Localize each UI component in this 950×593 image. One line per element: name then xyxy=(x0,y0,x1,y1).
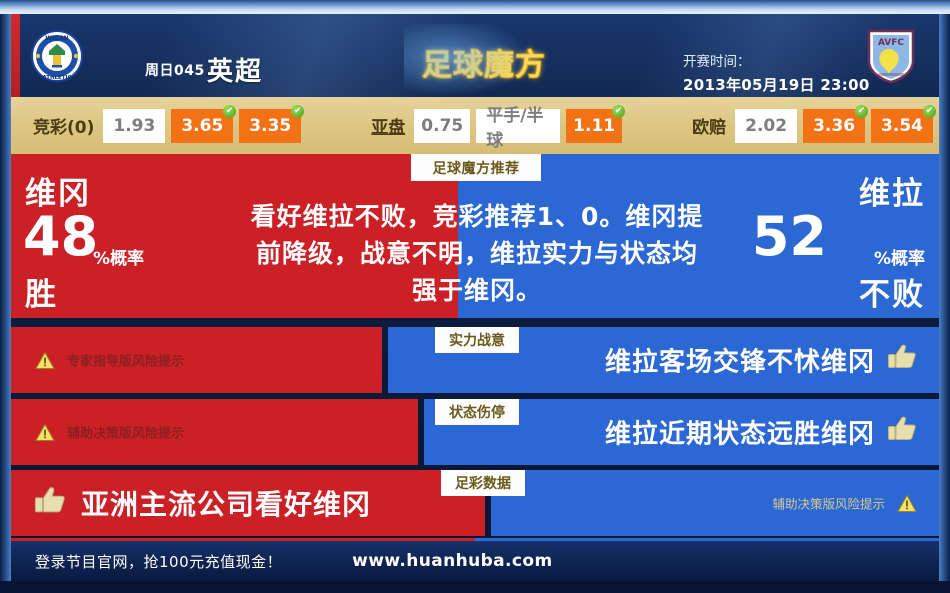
odds-value: 3.54 xyxy=(881,116,923,136)
check-icon: ✔ xyxy=(923,105,936,118)
home-team-crest-icon: WIGAN ATHLETIC xyxy=(30,29,84,83)
odds-value: 2.02 xyxy=(745,116,787,136)
odds-value: 平手/半球 xyxy=(486,101,550,151)
assistant-risk-warning: 辅助决策版风险提示 xyxy=(35,423,184,442)
frame-top-edge xyxy=(0,0,950,14)
warning-triangle-icon xyxy=(897,494,917,512)
odds-group-yapan: 亚盘 0.75 平手/半球 1.11 ✔ xyxy=(371,109,628,143)
info-row-form: 状态伤停 辅助决策版风险提示 维拉近期状态远胜维冈 xyxy=(11,399,939,465)
check-icon: ✔ xyxy=(855,105,868,118)
odds-value: 3.65 xyxy=(181,116,223,136)
footer-website-url[interactable]: www.huanhuba.com xyxy=(352,551,552,571)
odds-value: 1.11 xyxy=(573,116,615,136)
odds-group-label: 欧赔 xyxy=(692,113,726,138)
away-team-name: 维拉 xyxy=(859,168,925,213)
assistant-risk-warning-text: 辅助决策版风险提示 xyxy=(67,423,184,442)
check-icon: ✔ xyxy=(223,105,236,118)
odds-cell[interactable]: 3.54 ✔ xyxy=(871,109,933,143)
match-league-name: 英超 xyxy=(207,51,263,88)
home-win-percent: 48 xyxy=(23,210,98,264)
thumbs-up-icon xyxy=(887,416,917,449)
warning-triangle-icon xyxy=(35,423,55,441)
away-nolose-percent: 52 xyxy=(752,210,827,264)
match-header: WIGAN ATHLETIC AVFC 周日045 英超 足球魔方 开赛时间： … xyxy=(11,14,939,97)
odds-value: 1.93 xyxy=(113,116,155,136)
expert-risk-warning-text: 专家指导版风险提示 xyxy=(67,351,184,370)
odds-group-oupei: 欧赔 2.02 3.36 ✔ 3.54 ✔ xyxy=(692,109,939,143)
form-claim-text: 维拉近期状态远胜维冈 xyxy=(605,414,875,451)
match-preview-card: WIGAN ATHLETIC AVFC 周日045 英超 足球魔方 开赛时间： … xyxy=(0,0,950,593)
recommendation-text: 看好维拉不败，竞彩推荐1、0。维冈提前降级，战意不明，维拉实力与状态均强于维冈。 xyxy=(247,198,707,309)
assistant-risk-warning-right: 辅助决策版风险提示 xyxy=(772,494,917,513)
kickoff-time-label: 开赛时间： xyxy=(683,50,751,70)
odds-cell[interactable]: 1.93 xyxy=(103,109,165,143)
odds-value: 0.75 xyxy=(421,116,463,136)
form-claim: 维拉近期状态远胜维冈 xyxy=(605,414,917,451)
kickoff-time-value: 2013年05月19日 23:00 xyxy=(683,74,870,95)
svg-text:WIGAN: WIGAN xyxy=(45,35,68,42)
recommendation-band: 维冈 48 %概率 胜 维拉 52 %概率 不败 足球魔方推荐 看好维拉不败，竞… xyxy=(11,154,939,318)
expert-risk-warning: 专家指导版风险提示 xyxy=(35,351,184,370)
odds-cell[interactable]: 3.35 ✔ xyxy=(239,109,301,143)
frame-right-edge xyxy=(939,14,950,581)
match-round-number: 周日045 xyxy=(145,60,205,80)
header-accent-bar xyxy=(11,14,20,97)
odds-value: 3.36 xyxy=(813,116,855,136)
frame-bottom-edge xyxy=(0,581,950,593)
lottery-data-claim-text: 亚洲主流公司看好维冈 xyxy=(81,483,371,523)
info-row-strength: 实力战意 专家指导版风险提示 维拉客场交锋不怵维冈 xyxy=(11,327,939,393)
home-outcome-label: 胜 xyxy=(25,269,58,314)
brand-logo: 足球魔方 xyxy=(422,40,562,84)
lottery-data-claim: 亚洲主流公司看好维冈 xyxy=(33,483,371,523)
assistant-risk-warning-text: 辅助决策版风险提示 xyxy=(772,494,885,513)
svg-text:AVFC: AVFC xyxy=(878,38,904,48)
warning-triangle-icon xyxy=(35,351,55,369)
check-icon: ✔ xyxy=(612,105,625,118)
strength-claim: 维拉客场交锋不怵维冈 xyxy=(605,342,917,379)
home-percent-suffix: %概率 xyxy=(93,244,144,269)
strength-claim-text: 维拉客场交锋不怵维冈 xyxy=(605,342,875,379)
row-tab-label: 实力战意 xyxy=(435,327,519,353)
check-icon: ✔ xyxy=(291,105,304,118)
odds-group-label: 亚盘 xyxy=(371,113,405,138)
row-tab-label: 状态伤停 xyxy=(435,399,519,425)
svg-text:ATHLETIC: ATHLETIC xyxy=(42,75,71,81)
brand-glow xyxy=(404,24,534,97)
frame-left-edge xyxy=(0,14,11,581)
odds-group-label: 竞彩(0) xyxy=(33,113,94,138)
odds-cell[interactable]: 3.65 ✔ xyxy=(171,109,233,143)
odds-bar: 竞彩(0) 1.93 3.65 ✔ 3.35 ✔ 亚盘 0.75 平手/半球 1… xyxy=(11,97,939,154)
recommendation-tab-label: 足球魔方推荐 xyxy=(411,154,541,181)
away-percent-suffix: %概率 xyxy=(874,244,925,269)
thumbs-up-icon xyxy=(33,486,67,521)
footer-promo-text: 登录节目官网，抢100元充值现金！ xyxy=(35,551,282,572)
odds-cell[interactable]: 1.11 ✔ xyxy=(566,109,622,143)
away-team-crest-icon: AVFC xyxy=(865,28,917,84)
thumbs-up-icon xyxy=(887,344,917,377)
info-row-lottery-data: 足彩数据 亚洲主流公司看好维冈 辅助决策版风险提示 xyxy=(11,470,939,536)
footer-bar: 登录节目官网，抢100元充值现金！ www.huanhuba.com xyxy=(11,541,939,581)
odds-group-jingcai: 竞彩(0) 1.93 3.65 ✔ 3.35 ✔ xyxy=(33,109,307,143)
odds-value: 3.35 xyxy=(249,116,291,136)
odds-cell[interactable]: 3.36 ✔ xyxy=(803,109,865,143)
away-outcome-label: 不败 xyxy=(859,269,925,314)
odds-cell[interactable]: 0.75 xyxy=(414,109,470,143)
odds-cell-handicap[interactable]: 平手/半球 xyxy=(476,109,560,143)
row-tab-label: 足彩数据 xyxy=(441,470,525,496)
odds-cell[interactable]: 2.02 xyxy=(735,109,797,143)
